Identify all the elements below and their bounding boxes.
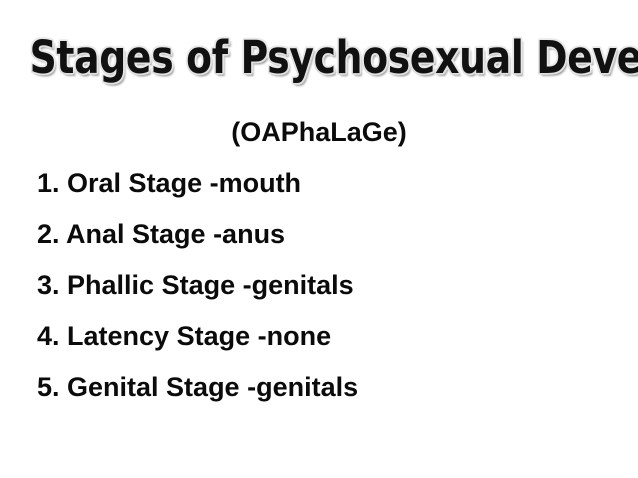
- list-item-number: 5.: [37, 372, 67, 402]
- slide-title: Stages of Psychosexual Development: [30, 30, 638, 86]
- list-item-number: 2.: [37, 219, 66, 249]
- list-item-label: Oral Stage -mouth: [67, 168, 301, 198]
- mnemonic-container: (OAPhaLaGe): [0, 116, 638, 148]
- list-item-number: 4.: [37, 321, 67, 351]
- list-item: 1. Oral Stage -mouth: [37, 167, 617, 218]
- list-item-number: 3.: [37, 270, 67, 300]
- slide-title-container: Stages of Psychosexual Development: [0, 30, 638, 92]
- list-item-label: Genital Stage -genitals: [67, 372, 358, 402]
- psychosexual-stage-list: 1. Oral Stage -mouth 2. Anal Stage -anus…: [37, 167, 617, 422]
- list-item-number: 1.: [37, 168, 67, 198]
- slide-canvas: Stages of Psychosexual Development (OAPh…: [0, 0, 638, 478]
- mnemonic-text: (OAPhaLaGe): [231, 116, 407, 148]
- list-item-label: Latency Stage -none: [67, 321, 331, 351]
- list-item-label: Phallic Stage -genitals: [67, 270, 354, 300]
- list-item-label: Anal Stage -anus: [66, 219, 285, 249]
- list-item: 2. Anal Stage -anus: [37, 218, 617, 269]
- list-item: 3. Phallic Stage -genitals: [37, 269, 617, 320]
- list-item: 4. Latency Stage -none: [37, 320, 617, 371]
- list-item: 5. Genital Stage -genitals: [37, 371, 617, 422]
